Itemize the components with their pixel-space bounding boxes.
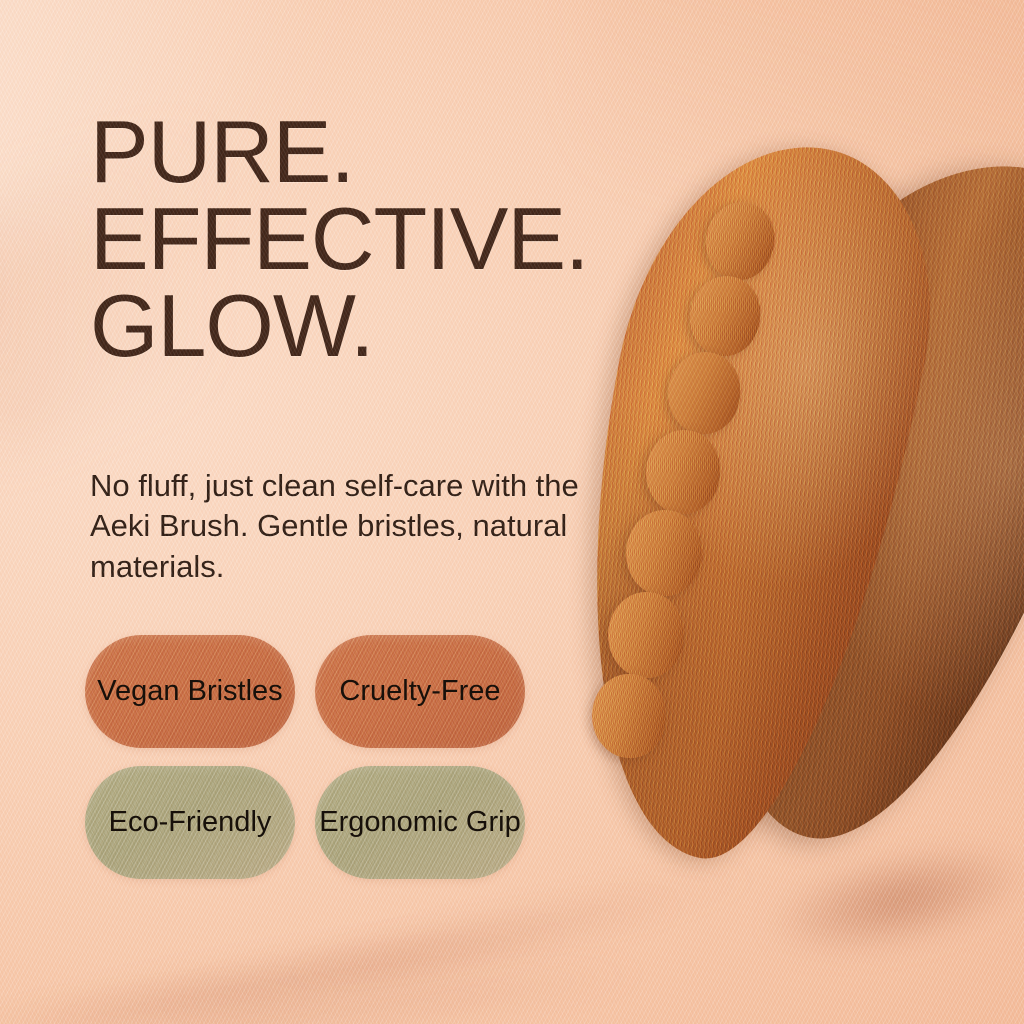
feature-badge-cruelty-free[interactable]: Cruelty-Free bbox=[315, 635, 525, 748]
bristle-lobe bbox=[641, 425, 726, 518]
subheadline: No fluff, just clean self-care with the … bbox=[90, 466, 620, 587]
bristle-lobe bbox=[591, 673, 668, 760]
feature-badge-label: Ergonomic Grip bbox=[319, 805, 520, 840]
headline: PURE. EFFECTIVE. GLOW. bbox=[90, 108, 710, 369]
banner-canvas: PURE. EFFECTIVE. GLOW. No fluff, just cl… bbox=[0, 0, 1024, 1024]
feature-badge-label: Eco-Friendly bbox=[109, 805, 272, 840]
headline-line-3: GLOW. bbox=[90, 282, 710, 369]
bristle-lobe bbox=[622, 506, 707, 599]
feature-badge-eco-friendly[interactable]: Eco-Friendly bbox=[85, 766, 295, 879]
palm-frond-shadow bbox=[21, 956, 658, 1024]
headline-line-2: EFFECTIVE. bbox=[90, 195, 710, 282]
feature-badge-label: Cruelty-Free bbox=[339, 674, 500, 709]
palm-frond-shadow bbox=[0, 917, 578, 1024]
feature-badge-vegan-bristles[interactable]: Vegan Bristles bbox=[85, 635, 295, 748]
headline-line-1: PURE. bbox=[90, 108, 710, 195]
feature-badge-label: Vegan Bristles bbox=[97, 674, 282, 709]
palm-frond-shadow bbox=[0, 980, 360, 1024]
feature-badge-ergonomic-grip[interactable]: Ergonomic Grip bbox=[315, 766, 525, 879]
feature-badge-group: Vegan Bristles Cruelty-Free Eco-Friendly… bbox=[85, 635, 535, 879]
bristle-lobe bbox=[605, 589, 687, 680]
